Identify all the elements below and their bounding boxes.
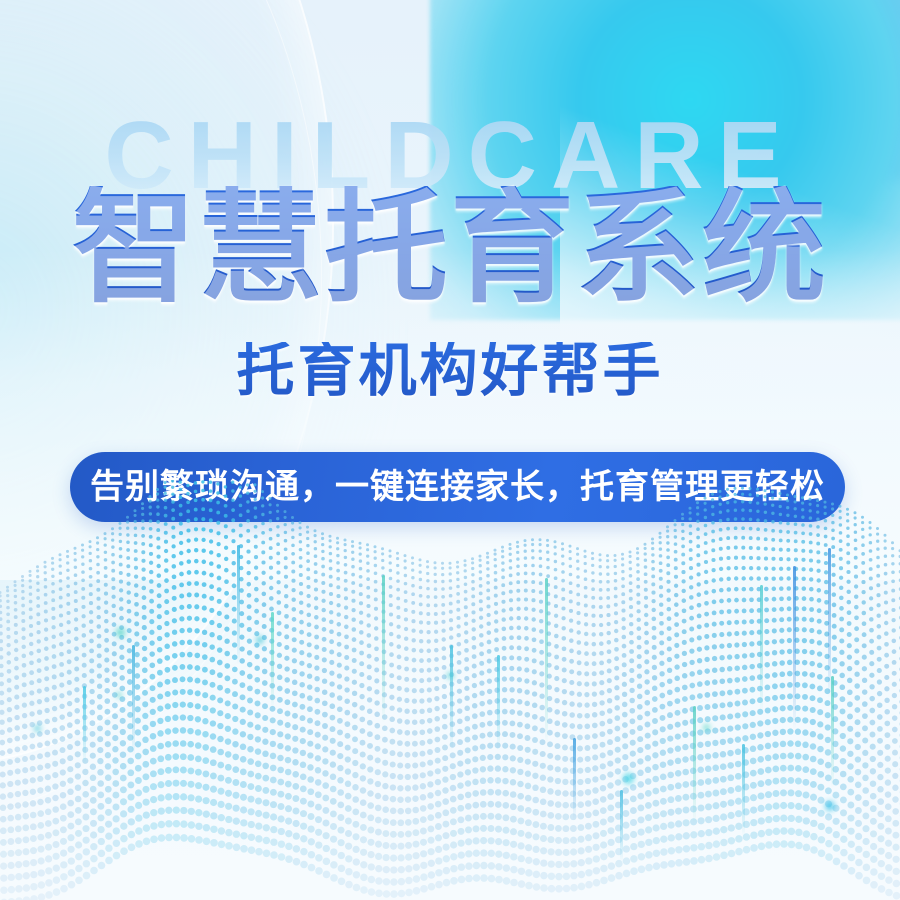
vertical-accent-line [237,545,240,665]
vertical-accent-line [545,578,548,744]
glow-dot [116,692,122,698]
glow-dot [34,725,41,732]
glow-dot [256,636,264,644]
glow-dot [825,801,835,811]
glow-dot [447,672,454,679]
vertical-accent-line [450,645,453,751]
vertical-accent-line [497,655,500,751]
page-title: 智慧托育系统 [0,186,900,310]
vertical-accent-line [793,566,796,730]
vertical-accent-line [828,548,831,698]
glow-dot [623,773,634,784]
vertical-accent-line [760,585,763,713]
page-subtitle: 托育机构好帮手 [0,342,900,400]
vertical-accent-line [693,706,696,824]
vertical-accent-line [271,612,274,708]
vertical-accent-line [83,686,86,764]
vertical-accent-line [831,676,834,788]
poster-root: CHILDCARE 智慧托育系统 托育机构好帮手 告别繁琐沟通，一键连接家长，托… [0,0,900,900]
vertical-accent-line [573,738,576,820]
vertical-accent-line [382,575,385,723]
vertical-accent-line [620,790,623,862]
vertical-accent-line [742,744,745,836]
vertical-accent-line [132,645,135,757]
glow-dot [703,724,710,731]
glow-dot [116,628,125,637]
